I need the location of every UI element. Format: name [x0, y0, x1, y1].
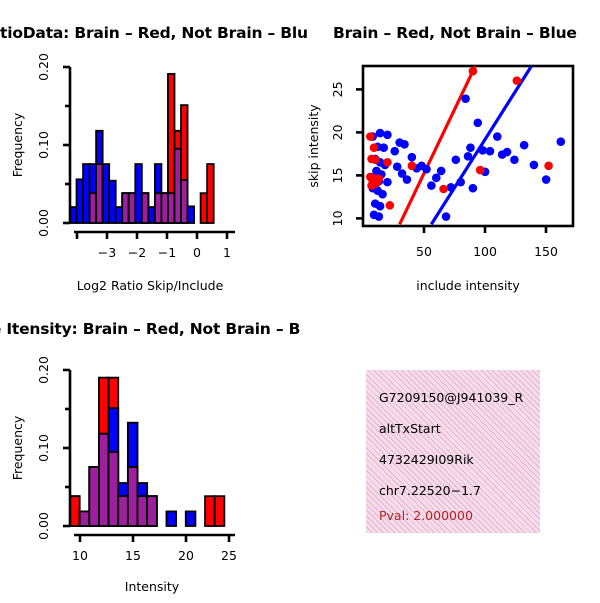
- histogram-bar-overlap: [99, 434, 109, 526]
- scatter-point: [371, 155, 380, 164]
- x-tick-label: −1: [158, 245, 176, 260]
- ratio-histogram-y-axis-label: Frequency: [10, 112, 25, 177]
- scatter-point: [376, 129, 385, 138]
- y-tick-label: 0.20: [36, 53, 51, 81]
- histogram-bar: [166, 511, 176, 526]
- histogram-bar-overlap: [181, 180, 188, 223]
- y-tick-label: 0.00: [36, 512, 51, 540]
- annotation-event-type: altTxStart: [379, 421, 441, 436]
- scatter-point: [366, 132, 375, 141]
- scatter-point: [383, 158, 392, 167]
- scatter-point: [469, 184, 478, 193]
- x-tick-label: 15: [125, 548, 141, 563]
- scatter-point: [478, 146, 487, 155]
- intensity-scatter-svg: 10152025 50100150 include intensity skip…: [300, 50, 600, 310]
- y-tick-label: 0.10: [36, 434, 51, 462]
- ratio-histogram-bars: [70, 74, 214, 223]
- x-tick-label: −2: [128, 245, 146, 260]
- scatter-point: [375, 212, 384, 221]
- x-tick-label: 150: [534, 244, 558, 259]
- gene-intensity-histogram-bars: [70, 378, 224, 526]
- scatter-point: [432, 174, 441, 183]
- scatter-y-tick-labels: 10152025: [330, 81, 345, 226]
- gene-annotation-box: G7209150@J941039_R altTxStart 4732429I09…: [366, 370, 540, 533]
- histogram-bar-overlap: [90, 193, 97, 223]
- ratio-histogram-panel: 0.000.100.20 −3−2−101 Log2 Ratio Skip/In…: [0, 50, 300, 310]
- histogram-bar-overlap: [128, 467, 138, 526]
- gene-intensity-histogram-panel: 0.000.100.20 10152025 Intensity Frequenc…: [0, 348, 300, 603]
- x-tick-label: −3: [98, 245, 116, 260]
- scatter-point: [378, 190, 387, 199]
- x-tick-label: 25: [221, 548, 237, 563]
- scatter-x-axis-label: include intensity: [416, 278, 520, 293]
- scatter-point: [464, 152, 473, 161]
- histogram-bar-overlap: [174, 149, 181, 223]
- y-tick-label: 15: [330, 167, 345, 183]
- annotation-gene-symbol: 4732429I09Rik: [379, 452, 474, 467]
- histogram-bar: [83, 164, 90, 223]
- y-tick-label: 0.00: [36, 209, 51, 237]
- scatter-y-axis-label: skip intensity: [306, 104, 321, 188]
- histogram-bar: [135, 164, 142, 223]
- x-tick-label: 100: [473, 244, 497, 259]
- histogram-bar: [215, 496, 225, 526]
- scatter-point: [437, 167, 446, 176]
- scatter-point: [476, 166, 485, 175]
- histogram-bar-overlap: [122, 193, 129, 223]
- scatter-point: [390, 147, 399, 156]
- scatter-point: [383, 178, 392, 187]
- histogram-bar: [188, 206, 195, 223]
- scatter-point: [386, 201, 395, 210]
- y-tick-label: 10: [330, 210, 345, 226]
- x-tick-label: 0: [193, 245, 201, 260]
- gene-intensity-x-axis-label: Intensity: [125, 579, 180, 594]
- ratio-histogram-y-axis: [63, 67, 70, 223]
- scatter-point: [376, 202, 385, 211]
- histogram-bar-overlap: [80, 511, 90, 526]
- scatter-point: [383, 131, 392, 140]
- histogram-bar: [201, 193, 208, 223]
- gene-intensity-x-tick-labels: 10152025: [72, 548, 237, 563]
- scatter-point: [408, 161, 417, 170]
- ratio-histogram-title: RatioData: Brain – Red, Not Brain – Blu: [0, 24, 308, 42]
- ratio-histogram-x-tick-labels: −3−2−101: [98, 245, 231, 260]
- x-tick-label: 20: [178, 548, 194, 563]
- gene-intensity-y-axis: [63, 370, 70, 526]
- x-tick-label: 1: [223, 245, 231, 260]
- scatter-point: [556, 137, 565, 146]
- gene-intensity-histogram-title: ne Itensity: Brain – Red, Not Brain – B: [0, 320, 300, 338]
- histogram-bar: [186, 511, 196, 526]
- histogram-bar: [109, 181, 116, 223]
- histogram-bar: [207, 164, 214, 223]
- ratio-histogram-x-axis: [74, 232, 235, 239]
- scatter-x-tick-labels: 50100150: [416, 244, 558, 259]
- histogram-bar-overlap: [147, 496, 157, 526]
- scatter-point: [520, 141, 529, 150]
- gene-intensity-y-tick-labels: 0.000.100.20: [36, 356, 51, 540]
- gene-intensity-x-axis: [74, 535, 235, 542]
- histogram-bar-overlap: [161, 193, 168, 223]
- scatter-point: [469, 67, 478, 76]
- gene-intensity-histogram-svg: 0.000.100.20 10152025 Intensity Frequenc…: [0, 348, 300, 603]
- ratio-histogram-svg: 0.000.100.20 −3−2−101 Log2 Ratio Skip/In…: [0, 50, 300, 310]
- histogram-bar-overlap: [155, 193, 162, 223]
- scatter-point: [486, 147, 495, 156]
- gene-intensity-y-axis-label: Frequency: [10, 415, 25, 480]
- histogram-bar: [205, 496, 215, 526]
- histogram-bar-overlap: [129, 193, 136, 223]
- histogram-bar: [148, 207, 155, 223]
- scatter-point: [461, 94, 470, 103]
- ratio-histogram-x-axis-label: Log2 Ratio Skip/Include: [77, 278, 224, 293]
- x-tick-label: 10: [72, 548, 88, 563]
- scatter-point: [451, 155, 460, 164]
- scatter-point: [403, 175, 412, 184]
- y-tick-label: 20: [330, 124, 345, 140]
- histogram-bar-overlap: [138, 496, 148, 526]
- ratio-histogram-y-tick-labels: 0.000.100.20: [36, 53, 51, 237]
- histogram-bar-overlap: [118, 496, 128, 526]
- scatter-point: [456, 178, 465, 187]
- scatter-point: [466, 143, 475, 152]
- intensity-scatter-title: Brain – Red, Not Brain – Blue: [333, 24, 577, 42]
- scatter-point: [503, 148, 512, 157]
- annotation-locus: chr7.22520−1.7: [379, 483, 481, 498]
- histogram-bar-overlap: [109, 452, 119, 526]
- scatter-point: [513, 76, 522, 85]
- scatter-point: [530, 161, 539, 170]
- scatter-point: [544, 161, 553, 170]
- scatter-point: [393, 162, 402, 171]
- scatter-point: [400, 140, 409, 149]
- histogram-bar: [70, 496, 80, 526]
- scatter-point: [370, 143, 379, 152]
- scatter-point: [493, 132, 502, 141]
- scatter-point: [422, 165, 431, 174]
- y-tick-label: 25: [330, 81, 345, 97]
- scatter-point: [542, 175, 551, 184]
- histogram-bar-overlap: [168, 193, 175, 223]
- scatter-point: [447, 183, 456, 192]
- x-tick-label: 50: [416, 244, 432, 259]
- scatter-point: [367, 181, 376, 190]
- scatter-point: [442, 212, 451, 221]
- scatter-point: [510, 155, 519, 164]
- annotation-pval: Pval: 2.000000: [379, 508, 473, 523]
- histogram-bar: [103, 164, 110, 223]
- y-tick-label: 0.20: [36, 356, 51, 384]
- scatter-point: [427, 181, 436, 190]
- histogram-bar-overlap: [142, 193, 149, 223]
- histogram-bar-overlap: [96, 164, 103, 223]
- histogram-bar: [116, 207, 123, 223]
- histogram-bar-overlap: [89, 467, 99, 526]
- scatter-point: [379, 143, 388, 152]
- annotation-probe-id: G7209150@J941039_R: [379, 390, 523, 405]
- scatter-point: [408, 153, 417, 162]
- y-tick-label: 0.10: [36, 131, 51, 159]
- intensity-scatter-panel: 10152025 50100150 include intensity skip…: [300, 50, 600, 310]
- histogram-bar: [77, 179, 84, 223]
- scatter-point: [473, 118, 482, 127]
- scatter-point: [439, 185, 448, 194]
